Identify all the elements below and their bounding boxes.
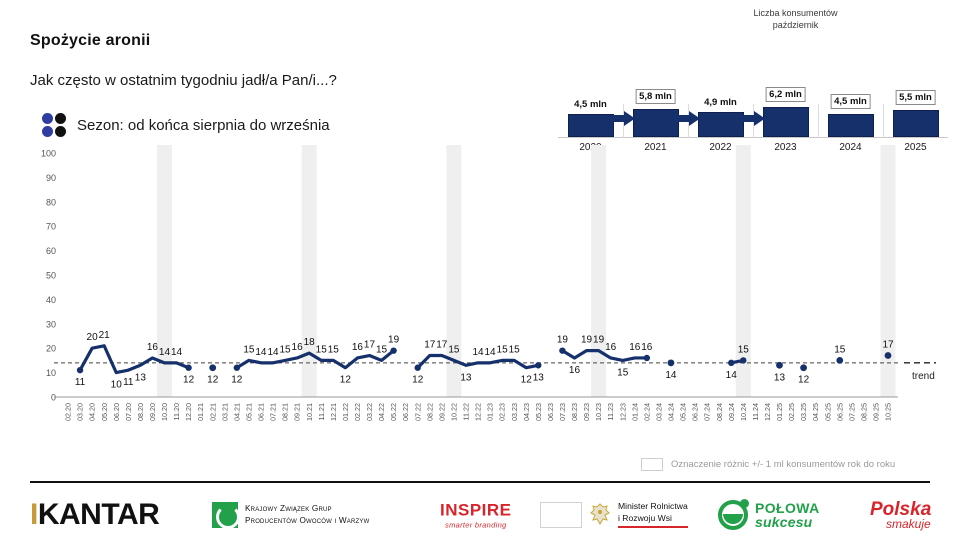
x-tick-label: 07.20 — [124, 403, 133, 421]
series-point — [776, 362, 783, 369]
consumer-bar-2025: 5,5 mln2025 — [893, 110, 939, 137]
red-underline — [618, 526, 688, 528]
x-tick-label: 11.21 — [317, 403, 326, 420]
x-tick-label: 06.23 — [546, 403, 555, 421]
x-tick-label: 07.22 — [413, 403, 422, 421]
x-tick-label: 06.25 — [835, 403, 844, 421]
series-point — [740, 357, 746, 363]
x-tick-label: 08.23 — [570, 403, 579, 421]
x-tick-label: 12.20 — [184, 403, 193, 421]
x-tick-label: 06.20 — [112, 403, 121, 421]
series-point — [535, 362, 541, 368]
data-label: 14 — [255, 347, 267, 358]
y-tick-label: 40 — [46, 295, 56, 305]
data-label: 15 — [834, 344, 846, 355]
series-point — [390, 347, 396, 353]
logo-polowa-sukcesu: POŁOWA sukcesu — [718, 500, 820, 530]
blank-box — [540, 502, 582, 528]
x-tick-label: 12.21 — [329, 403, 338, 421]
x-tick-label: 02.20 — [64, 403, 73, 421]
data-label: 16 — [629, 342, 641, 353]
data-label: 19 — [557, 335, 569, 346]
x-tick-label: 08.25 — [859, 403, 868, 421]
x-tick-label: 03.21 — [220, 403, 229, 421]
highlight-band-10.25 — [881, 145, 896, 397]
x-tick-label: 03.24 — [654, 403, 663, 421]
x-tick-label: 02.23 — [498, 403, 507, 421]
consumer-value-label: 5,8 mln — [635, 89, 676, 104]
data-label: 15 — [279, 344, 291, 355]
data-label: 18 — [304, 337, 316, 348]
bar-rect — [568, 114, 614, 137]
data-label: 11 — [123, 377, 134, 388]
series-point — [836, 357, 843, 364]
data-label: 17 — [364, 340, 376, 351]
x-tick-label: 03.20 — [76, 403, 85, 421]
consumer-axis-tick — [818, 104, 819, 138]
consumers-title-line1: Liczba konsumentów — [643, 8, 948, 20]
footer-legend: Oznaczenie różnic +/- 1 ml konsumentów r… — [641, 458, 895, 471]
data-label: 17 — [424, 340, 436, 351]
consumer-bar-2020: 4,5 mln2020 — [568, 114, 614, 137]
y-tick-label: 30 — [46, 319, 56, 329]
consumers-title: Liczba konsumentów październik — [558, 8, 948, 31]
y-tick-label: 70 — [46, 222, 56, 232]
data-label: 17 — [436, 340, 448, 351]
consumers-bar-chart: 4,5 mln20205,8 mln20214,9 mln20226,2 mln… — [558, 104, 948, 138]
x-tick-label: 08.21 — [281, 403, 290, 421]
logo-kantar: IKANTAR — [30, 498, 159, 532]
x-tick-label: 09.21 — [293, 403, 302, 421]
season-legend-label: Sezon: od końca sierpnia do września — [77, 117, 330, 134]
x-tick-label: 02.25 — [787, 403, 796, 421]
data-label: 16 — [641, 342, 653, 353]
data-label: 11 — [75, 377, 86, 388]
highlight-band-10.21 — [302, 145, 317, 397]
data-label: 12 — [521, 375, 533, 386]
x-tick-label: 10.21 — [305, 403, 314, 421]
x-tick-label: 06.24 — [691, 403, 700, 421]
logo-bar: IKANTAR Krajowy Związek Grup Producentów… — [0, 489, 960, 540]
y-tick-label: 10 — [46, 368, 56, 378]
growth-arrow-icon — [676, 111, 700, 131]
x-tick-label: 07.25 — [847, 403, 856, 421]
trend-label: trend — [912, 371, 935, 382]
series-point — [800, 364, 807, 371]
data-label: 14 — [484, 347, 496, 358]
data-label: 14 — [665, 370, 677, 381]
data-label: 15 — [243, 344, 255, 355]
x-tick-label: 04.25 — [811, 403, 820, 421]
x-tick-label: 11.20 — [172, 403, 181, 420]
x-tick-label: 08.20 — [136, 403, 145, 421]
x-tick-label: 04.23 — [522, 403, 531, 421]
y-tick-label: 100 — [41, 149, 56, 159]
data-label: 15 — [376, 344, 388, 355]
logo-inspire-line1: INSPIRE — [440, 500, 512, 520]
series-point — [559, 347, 565, 353]
data-label: 16 — [292, 342, 304, 353]
x-tick-label: 09.22 — [437, 403, 446, 421]
x-tick-label: 11.22 — [462, 403, 471, 420]
growth-arrow-icon — [741, 111, 765, 131]
bar-rect — [828, 114, 874, 137]
logo-minister-rolnictwa: Minister Rolnictwa i Rozwoju Wsi — [540, 500, 688, 530]
x-tick-label: 02.24 — [642, 403, 651, 421]
x-tick-label: 07.23 — [558, 403, 567, 421]
x-tick-label: 10.23 — [594, 403, 603, 421]
x-tick-label: 12.24 — [763, 403, 772, 421]
x-tick-label: 01.24 — [630, 403, 639, 421]
x-tick-label: 08.22 — [425, 403, 434, 421]
apple-circle-icon — [212, 502, 238, 528]
main-line-chart: 010203040506070809010002.2003.2004.2005.… — [0, 145, 960, 455]
x-tick-label: 10.22 — [449, 403, 458, 421]
data-label: 14 — [472, 347, 484, 358]
x-tick-label: 10.20 — [160, 403, 169, 421]
page-title: Spożycie aronii — [30, 32, 150, 50]
bar-rect — [763, 107, 809, 137]
x-tick-label: 07.21 — [269, 403, 278, 421]
consumer-value-label: 6,2 mln — [765, 87, 806, 102]
x-tick-label: 11.23 — [606, 403, 615, 420]
data-label: 15 — [316, 344, 328, 355]
consumer-bar-2024: 4,5 mln2024 — [828, 114, 874, 137]
x-tick-label: 05.20 — [100, 403, 109, 421]
data-label: 19 — [388, 335, 400, 346]
x-tick-label: 04.20 — [88, 403, 97, 421]
x-tick-label: 09.20 — [148, 403, 157, 421]
growth-arrow-icon — [611, 111, 635, 131]
bar-rect — [893, 110, 939, 137]
x-tick-label: 10.25 — [884, 403, 893, 421]
x-tick-label: 01.22 — [341, 403, 350, 421]
x-tick-label: 05.25 — [823, 403, 832, 421]
y-tick-label: 60 — [46, 246, 56, 256]
x-tick-label: 05.22 — [389, 403, 398, 421]
logo-minrol-line1: Minister Rolnictwa — [618, 501, 688, 512]
x-tick-label: 05.23 — [534, 403, 543, 421]
data-label: 14 — [267, 347, 279, 358]
consumers-panel: Liczba konsumentów październik 4,5 mln20… — [558, 8, 948, 166]
logo-polowa-line2: sukcesu — [755, 514, 820, 530]
x-tick-label: 07.24 — [703, 403, 712, 421]
data-label: 12 — [798, 375, 810, 386]
highlight-band-10.23 — [591, 145, 606, 397]
y-tick-label: 90 — [46, 173, 56, 183]
footer-divider — [30, 481, 930, 483]
data-label: 15 — [328, 344, 340, 355]
x-tick-label: 05.21 — [244, 403, 253, 421]
x-tick-label: 03.25 — [799, 403, 808, 421]
x-tick-label: 03.23 — [510, 403, 519, 421]
y-tick-label: 80 — [46, 197, 56, 207]
series-point — [209, 364, 216, 371]
x-tick-label: 01.25 — [775, 403, 784, 421]
logo-kzg-line1: Krajowy Związek Grup — [245, 503, 369, 514]
data-label: 16 — [569, 365, 581, 376]
y-tick-label: 20 — [46, 344, 56, 354]
bar-rect — [633, 109, 679, 137]
x-tick-label: 05.24 — [679, 403, 688, 421]
data-label: 12 — [412, 375, 424, 386]
data-label: 13 — [460, 372, 472, 383]
half-circle-icon — [718, 500, 748, 530]
consumer-bar-2022: 4,9 mln2022 — [698, 112, 744, 137]
logo-minrol-line2: i Rozwoju Wsi — [618, 513, 688, 524]
data-label: 15 — [738, 344, 750, 355]
data-label: 14 — [726, 370, 738, 381]
x-tick-label: 12.22 — [474, 403, 483, 421]
data-label: 16 — [147, 342, 159, 353]
data-label: 14 — [159, 347, 171, 358]
data-label: 12 — [340, 375, 352, 386]
data-label: 14 — [171, 347, 183, 358]
y-tick-label: 50 — [46, 271, 56, 281]
x-tick-label: 12.23 — [618, 403, 627, 421]
x-tick-label: 04.24 — [667, 403, 676, 421]
x-tick-label: 02.22 — [353, 403, 362, 421]
series-point — [668, 359, 675, 366]
x-tick-label: 04.21 — [232, 403, 241, 421]
data-label: 15 — [617, 367, 629, 378]
gray-band-swatch — [641, 458, 663, 471]
x-tick-label: 08.24 — [715, 403, 724, 421]
season-legend: Sezon: od końca sierpnia do września — [42, 113, 330, 137]
logo-kantar-text: KANTAR — [38, 498, 159, 531]
data-label: 13 — [774, 372, 786, 383]
x-tick-label: 09.25 — [872, 403, 881, 421]
data-label: 12 — [183, 375, 195, 386]
consumer-bar-2023: 6,2 mln2023 — [763, 107, 809, 137]
data-label: 12 — [231, 375, 243, 386]
data-label: 13 — [533, 372, 545, 383]
series-point — [415, 365, 421, 371]
data-label: 15 — [509, 344, 521, 355]
x-tick-label: 01.23 — [486, 403, 495, 421]
x-tick-label: 09.24 — [727, 403, 736, 421]
data-label: 12 — [207, 375, 219, 386]
four-dots-icon — [42, 113, 66, 137]
data-label: 19 — [581, 335, 593, 346]
consumer-bar-2021: 5,8 mln2021 — [633, 109, 679, 137]
x-tick-label: 04.22 — [377, 403, 386, 421]
series-point — [644, 355, 650, 361]
series-point — [77, 367, 83, 373]
logo-inspire: INSPIRE smarter branding — [440, 500, 512, 529]
logo-polska-line2: smakuje — [886, 517, 931, 531]
consumer-axis-tick — [883, 104, 884, 138]
x-tick-label: 10.24 — [739, 403, 748, 421]
x-tick-label: 11.24 — [751, 403, 760, 420]
data-label: 10 — [111, 380, 123, 391]
series-point — [885, 352, 892, 359]
consumer-value-label: 4,5 mln — [571, 98, 610, 111]
x-tick-label: 09.23 — [582, 403, 591, 421]
consumers-title-line2: październik — [643, 20, 948, 32]
data-label: 15 — [448, 344, 460, 355]
series-point — [185, 365, 191, 371]
data-label: 15 — [497, 344, 509, 355]
data-label: 16 — [352, 342, 364, 353]
page-subtitle: Jak często w ostatnim tygodniu jadł/a Pa… — [30, 72, 337, 89]
logo-krajowy-zwiazek-grup: Krajowy Związek Grup Producentów Owoców … — [212, 502, 369, 528]
bar-rect — [698, 112, 744, 137]
data-label: 16 — [605, 342, 617, 353]
eagle-emblem-icon — [585, 500, 615, 530]
footer-legend-label: Oznaczenie różnic +/- 1 ml konsumentów r… — [671, 459, 895, 470]
x-tick-label: 02.21 — [208, 403, 217, 421]
logo-polska-smakuje: Polska smakuje — [870, 499, 931, 531]
data-label: 21 — [99, 330, 111, 341]
consumer-value-label: 4,5 mln — [830, 94, 871, 109]
data-label: 20 — [87, 332, 99, 343]
chart-canvas: 010203040506070809010002.2003.2004.2005.… — [0, 145, 960, 455]
x-tick-label: 06.22 — [401, 403, 410, 421]
consumer-value-label: 5,5 mln — [895, 90, 936, 105]
x-tick-label: 03.22 — [365, 403, 374, 421]
data-label: 17 — [882, 340, 894, 351]
logo-kzg-line2: Producentów Owoców i Warzyw — [245, 515, 369, 526]
data-label: 13 — [135, 372, 147, 383]
x-tick-label: 01.21 — [196, 403, 205, 421]
logo-inspire-line2: smarter branding — [440, 520, 512, 529]
series-point — [234, 365, 240, 371]
data-label: 19 — [593, 335, 605, 346]
x-tick-label: 06.21 — [257, 403, 266, 421]
consumer-value-label: 4,9 mln — [701, 96, 740, 109]
series-point — [728, 360, 734, 366]
